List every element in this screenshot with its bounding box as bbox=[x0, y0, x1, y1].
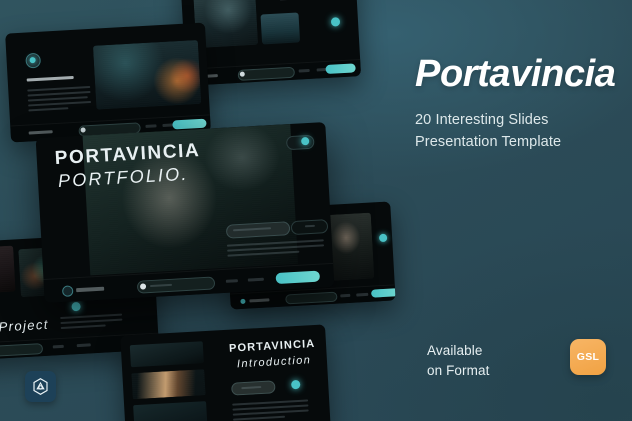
intro-photo-top bbox=[130, 341, 204, 367]
slide-title-featured-01 bbox=[27, 76, 74, 82]
slide-nav-search[interactable] bbox=[137, 276, 216, 293]
slide-nav-item-contact[interactable] bbox=[248, 278, 264, 282]
intro-title-line2: Introduction bbox=[237, 354, 312, 370]
availability-text: Available on Format bbox=[427, 341, 489, 380]
availability-line1: Available bbox=[427, 341, 489, 361]
intro-photo-bottom bbox=[133, 401, 207, 421]
slide-nav-cta[interactable] bbox=[276, 271, 321, 284]
slide-nav-cta[interactable] bbox=[325, 63, 355, 74]
slide-photo-woman-portrait bbox=[0, 246, 16, 296]
brand-subtitle-line1: 20 Interesting Slides bbox=[415, 109, 615, 131]
intro-title-line1: PORTAVINCIA bbox=[229, 338, 316, 355]
slide-photo-night-street bbox=[93, 40, 201, 110]
creative-title-line2: Project bbox=[0, 317, 49, 335]
slide-nav-search[interactable] bbox=[238, 67, 296, 81]
slide-nav-item-menu[interactable] bbox=[226, 279, 238, 283]
hexagon-monogram-icon bbox=[31, 377, 50, 396]
hero-toggle[interactable] bbox=[286, 135, 315, 151]
brand-block: Portavincia 20 Interesting Slides Presen… bbox=[415, 55, 615, 154]
brand-subtitle-line2: Presentation Template bbox=[415, 131, 615, 153]
slide-nav-logo-icon bbox=[62, 285, 74, 297]
slide-nav-search[interactable] bbox=[0, 343, 43, 358]
slide-nav-cta[interactable] bbox=[172, 119, 206, 130]
intro-photo-light-streak bbox=[131, 369, 205, 399]
slide-accent-dot bbox=[331, 17, 340, 26]
poster-canvas: REATIVE Project PORTAVINCIA PORTFOLIO. bbox=[0, 0, 632, 421]
slide-nav-brand bbox=[76, 287, 104, 293]
slide-nav-brand bbox=[249, 298, 269, 302]
slide-portfolio-hero[interactable]: PORTAVINCIA PORTFOLIO. bbox=[36, 122, 335, 303]
slide-nav-brand bbox=[29, 130, 53, 134]
slide-introduction[interactable]: PORTAVINCIA Introduction bbox=[120, 324, 331, 421]
slide-nav-search[interactable] bbox=[285, 292, 337, 305]
slide-featured-01[interactable] bbox=[5, 23, 211, 143]
slide-nav-cta[interactable] bbox=[371, 288, 396, 297]
brand-logo-badge bbox=[25, 371, 56, 402]
brand-name: Portavincia bbox=[415, 55, 615, 93]
gsl-format-badge: GSL bbox=[570, 339, 606, 375]
slide-photo-bridge-thumb bbox=[260, 12, 300, 44]
gsl-badge-label: GSL bbox=[577, 351, 600, 363]
availability-line2: on Format bbox=[427, 361, 489, 381]
